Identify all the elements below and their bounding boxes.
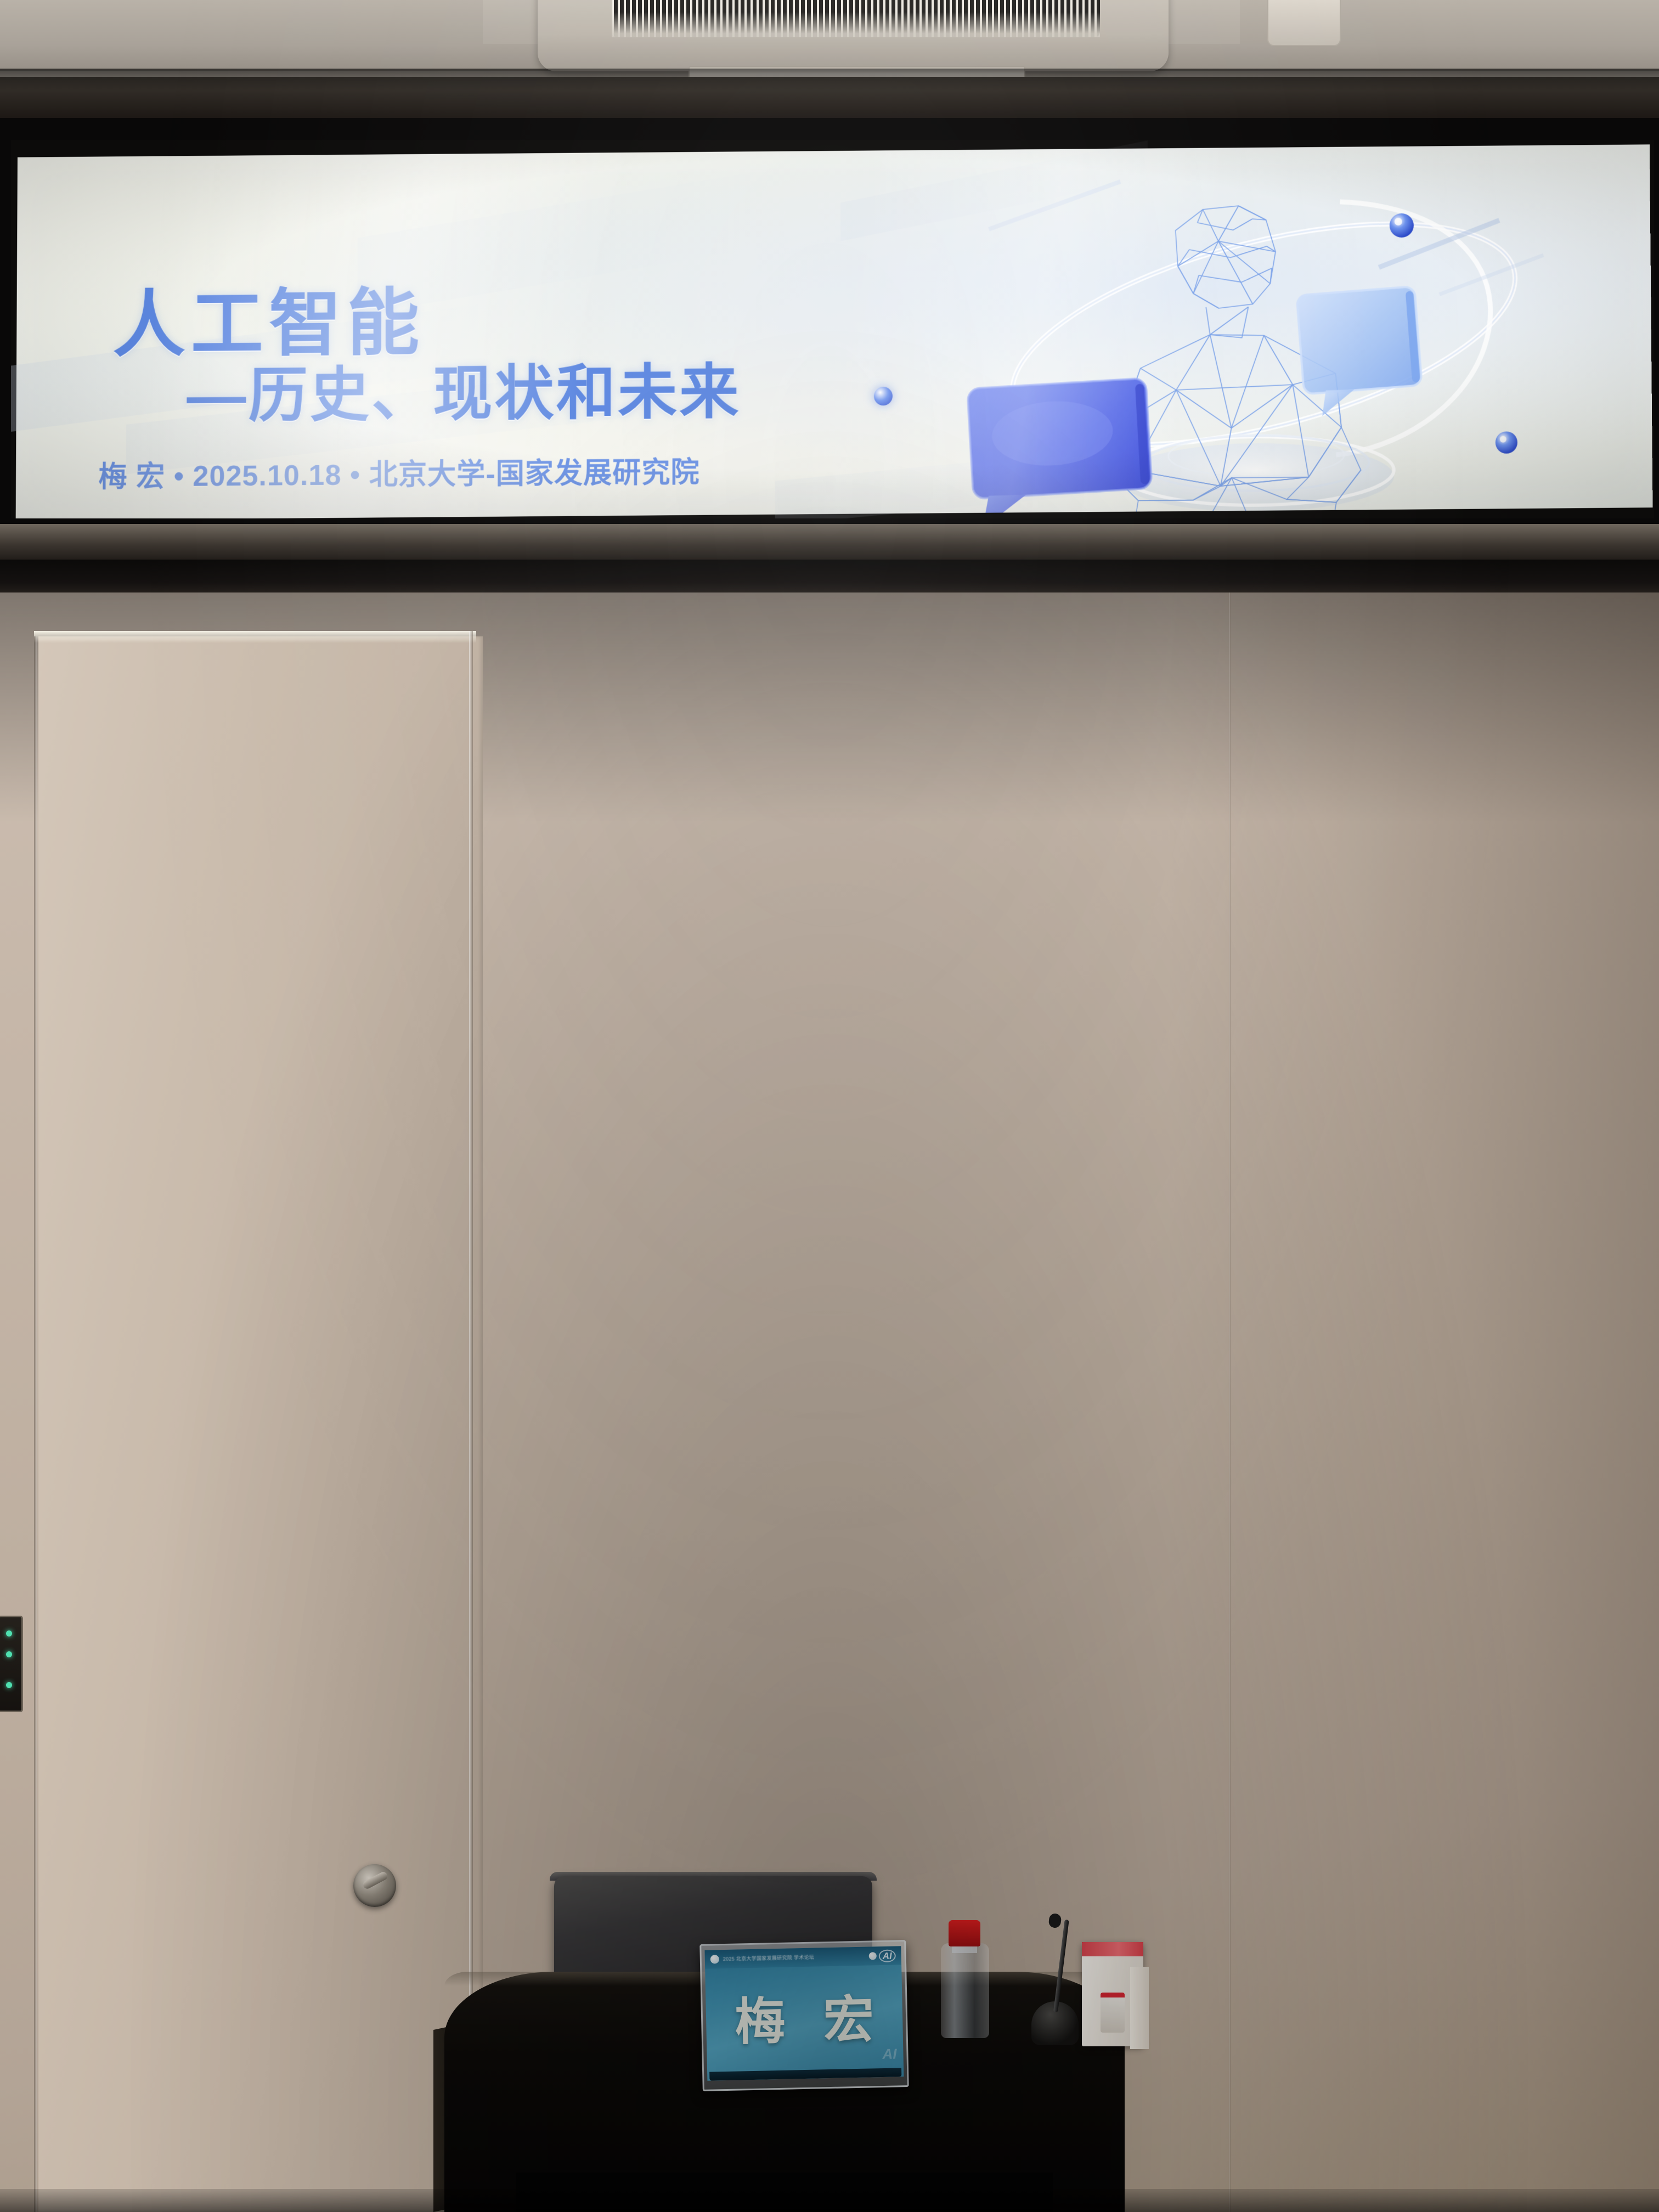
nameplate: 2025 北京大学国家发展研究院 学术论坛 AI 梅 宏 AI [704, 1946, 904, 2080]
wall-seam [1229, 592, 1231, 2212]
microphone-icon[interactable] [1022, 1919, 1087, 2045]
door-frame-edge [34, 636, 37, 2212]
box-bottle-icon [1101, 1993, 1125, 2033]
nameplate-speaker-name: 梅 宏 [706, 1978, 904, 2055]
microphone-head [1048, 1913, 1062, 1928]
nameplate-logo-secondary-icon [869, 1952, 877, 1960]
ac-grille-fade [612, 12, 1100, 37]
valance-shadow [0, 69, 1659, 91]
nameplate-holder[interactable]: 2025 北京大学国家发展研究院 学术论坛 AI 梅 宏 AI [699, 1940, 909, 2091]
nameplate-watermark-icon: AI [882, 2045, 897, 2063]
photo-scene: 人工智能 —历史、现状和未来 梅 宏 • 2025.10.18 • 北京大学-国… [0, 0, 1659, 2212]
wall-right-shadow [1165, 592, 1659, 2212]
panel-led-icon [6, 1630, 12, 1637]
box-secondary [1130, 1967, 1149, 2049]
door-top-highlight [34, 631, 476, 643]
nameplate-logo-icon [710, 1955, 719, 1963]
presentation-slide: 人工智能 —历史、现状和未来 梅 宏 • 2025.10.18 • 北京大学-国… [16, 144, 1653, 518]
slide-text-block: 人工智能 —历史、现状和未来 梅 宏 • 2025.10.18 • 北京大学-国… [16, 144, 1653, 518]
nameplate-header-text: 2025 北京大学国家发展研究院 学术论坛 [723, 1954, 865, 1962]
nameplate-ai-badge: AI [879, 1949, 896, 1962]
nameplate-base [709, 2068, 901, 2080]
ceiling-light-panel [1267, 0, 1341, 46]
slide-title-subtitle: —历史、现状和未来 [187, 344, 741, 435]
microphone-stem [1053, 1920, 1069, 2013]
nameplate-header: 2025 北京大学国家发展研究院 学术论坛 AI [704, 1946, 901, 1968]
bottle-cap [949, 1920, 980, 1946]
ceiling-panel-right [1158, 0, 1240, 44]
room-door[interactable] [38, 636, 483, 2212]
nameplate-logo-right: AI [869, 1949, 896, 1962]
box-stripe [1082, 1942, 1143, 1956]
water-bottle-icon[interactable] [941, 1920, 989, 2038]
bottle-body [941, 1943, 989, 2038]
slide-byline: 梅 宏 • 2025.10.18 • 北京大学-国家发展研究院 [98, 449, 699, 495]
panel-led-icon [6, 1651, 12, 1657]
projection-screen: 人工智能 —历史、现状和未来 梅 宏 • 2025.10.18 • 北京大学-国… [11, 140, 1654, 518]
foreground-shadow [0, 2189, 1659, 2212]
wall-control-panel[interactable] [0, 1616, 23, 1712]
panel-led-icon [6, 1682, 12, 1688]
door-knob-icon[interactable] [353, 1864, 396, 1907]
